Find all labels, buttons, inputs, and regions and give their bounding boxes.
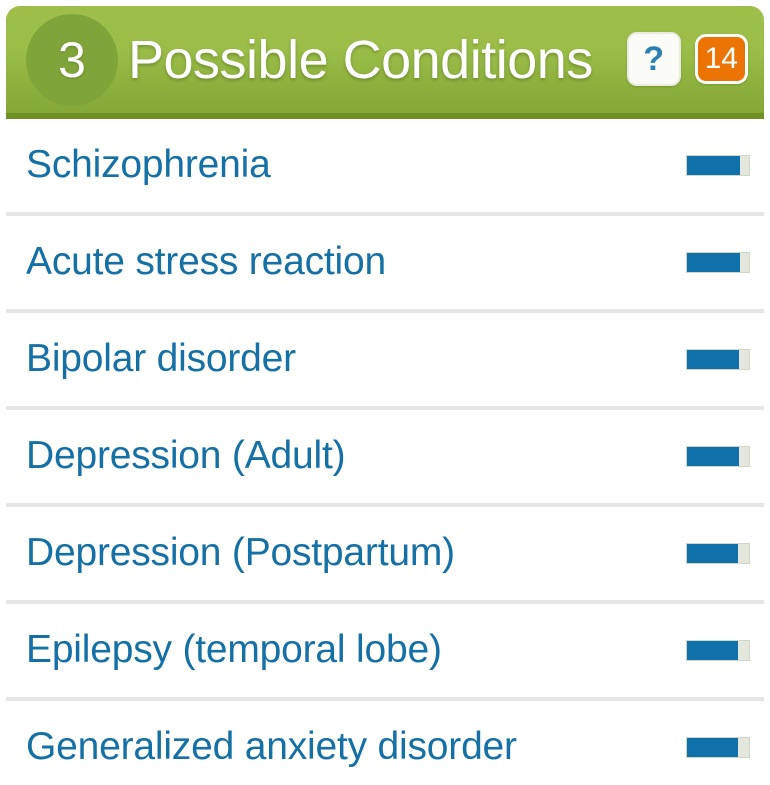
- condition-name-link[interactable]: Schizophrenia: [26, 144, 271, 187]
- likelihood-meter-fill: [687, 350, 739, 369]
- condition-list: SchizophreniaAcute stress reactionBipola…: [6, 119, 764, 785]
- likelihood-meter-fill: [687, 641, 738, 660]
- likelihood-meter: [686, 543, 750, 564]
- header-actions: ? 14: [627, 32, 748, 88]
- likelihood-meter: [686, 640, 750, 661]
- panel-header: 3 Possible Conditions ? 14: [6, 6, 764, 119]
- likelihood-meter: [686, 349, 750, 370]
- condition-name-link[interactable]: Depression (Postpartum): [26, 532, 455, 575]
- list-item[interactable]: Schizophrenia: [6, 119, 764, 216]
- list-item[interactable]: Epilepsy (temporal lobe): [6, 604, 764, 701]
- condition-count-badge: 3: [26, 14, 118, 106]
- list-item[interactable]: Acute stress reaction: [6, 216, 764, 313]
- likelihood-meter: [686, 446, 750, 467]
- condition-name-link[interactable]: Generalized anxiety disorder: [26, 726, 517, 769]
- alert-count-badge[interactable]: 14: [695, 34, 748, 84]
- condition-name-link[interactable]: Bipolar disorder: [26, 338, 296, 381]
- list-item[interactable]: Depression (Postpartum): [6, 507, 764, 604]
- help-icon[interactable]: ?: [627, 32, 681, 86]
- likelihood-meter-fill: [687, 156, 740, 175]
- condition-name-link[interactable]: Depression (Adult): [26, 435, 345, 478]
- likelihood-meter-fill: [687, 447, 739, 466]
- likelihood-meter-fill: [687, 253, 740, 272]
- list-item[interactable]: Depression (Adult): [6, 410, 764, 507]
- condition-name-link[interactable]: Epilepsy (temporal lobe): [26, 629, 442, 672]
- likelihood-meter-fill: [687, 738, 738, 757]
- likelihood-meter-fill: [687, 544, 738, 563]
- likelihood-meter: [686, 252, 750, 273]
- list-item[interactable]: Generalized anxiety disorder: [6, 701, 764, 785]
- condition-name-link[interactable]: Acute stress reaction: [26, 241, 386, 284]
- page-title: Possible Conditions: [124, 33, 627, 87]
- likelihood-meter: [686, 737, 750, 758]
- possible-conditions-panel: 3 Possible Conditions ? 14 Schizophrenia…: [0, 0, 770, 785]
- list-item[interactable]: Bipolar disorder: [6, 313, 764, 410]
- likelihood-meter: [686, 155, 750, 176]
